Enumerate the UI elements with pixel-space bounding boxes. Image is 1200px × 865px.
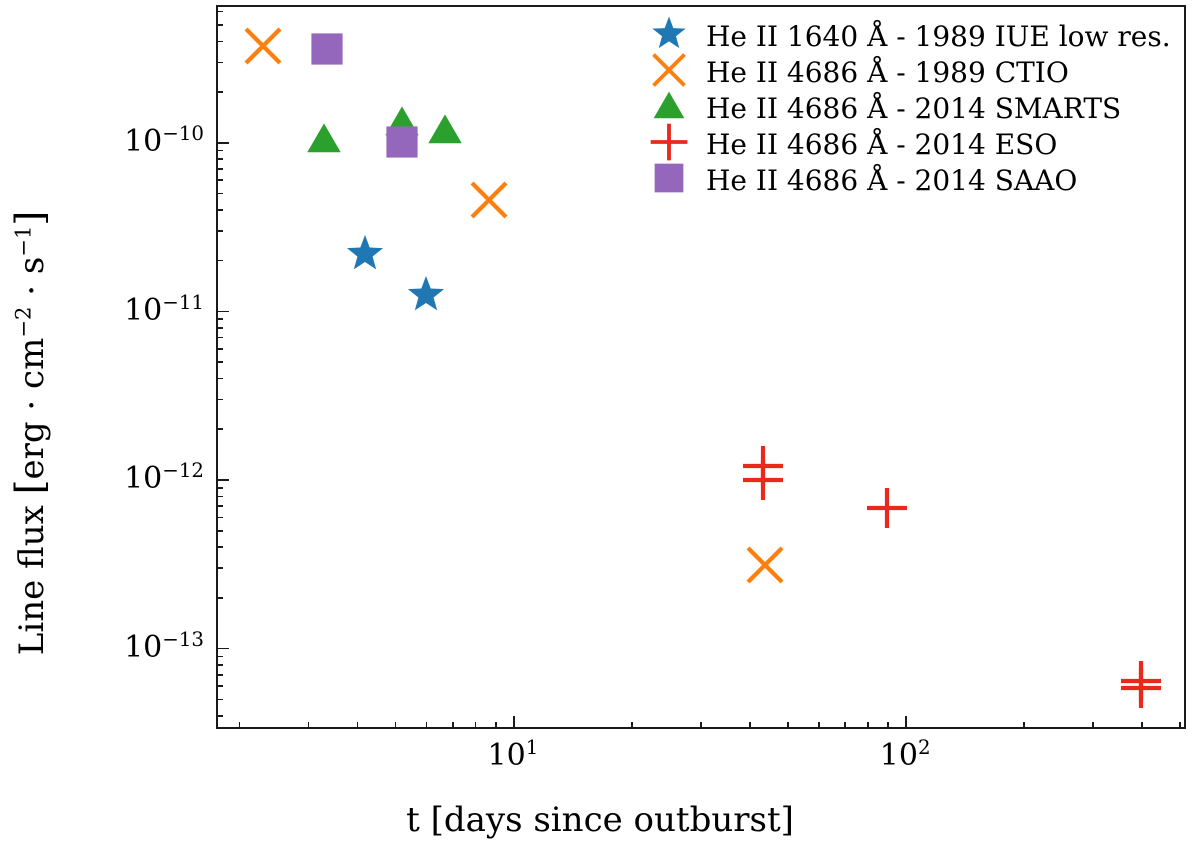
y-axis-tick-minor	[216, 41, 223, 43]
y-axis-tick-minor	[216, 496, 223, 498]
y-axis-tick-minor	[216, 715, 223, 717]
y-axis-tick-minor	[216, 337, 223, 339]
y-axis-label-s: s	[12, 256, 52, 273]
y-axis-tick-minor	[216, 179, 223, 181]
data-point-marker	[867, 488, 907, 532]
data-point-marker	[382, 122, 422, 166]
x-axis-tick-label: 101	[488, 741, 539, 771]
y-axis-tick-minor	[216, 62, 223, 64]
data-point-marker	[244, 27, 282, 69]
y-axis-tick-minor	[216, 193, 223, 195]
y-axis-label-s-exponent: −1	[11, 225, 36, 256]
y-axis-tick-label: 10−12	[124, 464, 204, 494]
x-axis-tick-minor	[495, 722, 497, 729]
x-axis-tick-minor	[395, 722, 397, 729]
x-axis-tick-minor	[426, 722, 428, 729]
x-axis-tick-minor	[818, 722, 820, 729]
legend-marker-square-icon	[642, 162, 696, 198]
y-axis-tick-minor	[216, 656, 223, 658]
y-axis-label-cm-exponent: −2	[11, 306, 36, 337]
x-axis-tick-minor	[1179, 722, 1181, 729]
y-axis-tick-minor	[216, 11, 223, 13]
x-axis-tick-minor	[239, 722, 241, 729]
y-axis-tick-major	[216, 311, 229, 313]
y-axis-tick-minor	[216, 597, 223, 599]
legend-entry-3[interactable]: He II 4686 Å - 2014 ESO	[642, 126, 1171, 162]
figure-scatter-line-flux: Line flux [erg · cm−2 · s−1] 10110210−10…	[0, 0, 1200, 865]
x-axis-tick-minor	[867, 722, 869, 729]
y-axis-label-open-bracket: [	[8, 479, 52, 494]
y-axis-tick-major	[216, 648, 229, 650]
legend: He II 1640 Å - 1989 IUE low res.He II 46…	[642, 18, 1171, 198]
data-point-marker	[743, 460, 783, 504]
y-axis-tick-minor	[216, 209, 223, 211]
x-axis-tick-major	[513, 716, 515, 729]
y-axis-tick-minor	[216, 348, 223, 350]
y-axis-tick-minor	[216, 150, 223, 152]
legend-entry-0[interactable]: He II 1640 Å - 1989 IUE low res.	[642, 18, 1171, 54]
y-axis-label-prefix: Line flux	[12, 494, 52, 655]
y-axis-tick-minor	[216, 168, 223, 170]
y-axis-tick-minor	[216, 546, 223, 548]
y-axis-tick-minor	[216, 158, 223, 160]
x-axis-tick-minor	[787, 722, 789, 729]
y-axis-tick-minor	[216, 260, 223, 262]
x-axis-label: t [days since outburst]	[0, 800, 1200, 840]
y-axis-label-dot-2: ·	[12, 274, 52, 306]
legend-marker-x-icon	[642, 54, 696, 90]
legend-marker-star-icon	[642, 18, 696, 54]
legend-label: He II 4686 Å - 1989 CTIO	[696, 56, 1069, 89]
y-axis-tick-minor	[216, 428, 223, 430]
legend-marker-plus-icon	[642, 126, 696, 162]
y-axis-tick-minor	[216, 699, 223, 701]
legend-label: He II 4686 Å - 2014 SAAO	[696, 164, 1077, 197]
legend-entry-4[interactable]: He II 4686 Å - 2014 SAAO	[642, 162, 1171, 198]
y-axis-label-close-bracket: ]	[8, 210, 52, 225]
y-axis-tick-label: 10−11	[124, 296, 204, 326]
y-axis-label-cm: cm	[12, 337, 52, 388]
legend-entry-1[interactable]: He II 4686 Å - 1989 CTIO	[642, 54, 1171, 90]
x-axis-tick-minor	[887, 722, 889, 729]
y-axis-tick-minor	[216, 378, 223, 380]
x-axis-tick-minor	[357, 722, 359, 729]
y-axis-label-dot-1: ·	[12, 388, 52, 420]
data-point-marker	[426, 111, 464, 153]
data-point-marker	[470, 181, 508, 223]
legend-label: He II 1640 Å - 1989 IUE low res.	[696, 20, 1171, 53]
y-axis-tick-minor	[216, 487, 223, 489]
y-axis-tick-minor	[216, 24, 223, 26]
x-axis-tick-minor	[844, 722, 846, 729]
legend-entry-2[interactable]: He II 4686 Å - 2014 SMARTS	[642, 90, 1171, 126]
x-axis-tick-minor	[1141, 722, 1143, 729]
y-axis-tick-minor	[216, 399, 223, 401]
data-point-marker	[305, 120, 343, 162]
y-axis-tick-major	[216, 142, 229, 144]
legend-label: He II 4686 Å - 2014 ESO	[696, 128, 1057, 161]
y-axis-tick-minor	[216, 505, 223, 507]
y-axis-tick-minor	[216, 685, 223, 687]
data-point-marker	[307, 29, 347, 73]
y-axis-label-erg: erg	[12, 421, 52, 479]
y-axis-tick-minor	[216, 230, 223, 232]
y-axis-tick-major	[216, 479, 229, 481]
y-axis-tick-minor	[216, 327, 223, 329]
x-axis-tick-minor	[452, 722, 454, 729]
y-axis-label-container: Line flux [erg · cm−2 · s−1]	[0, 0, 62, 865]
x-axis-tick-minor	[1023, 722, 1025, 729]
y-axis-tick-minor	[216, 674, 223, 676]
x-axis-tick-minor	[700, 722, 702, 729]
y-axis-tick-minor	[216, 517, 223, 519]
y-axis-tick-minor	[216, 664, 223, 666]
data-point-marker	[746, 546, 784, 588]
y-axis-tick-minor	[216, 567, 223, 569]
y-axis-tick-label: 10−13	[124, 633, 204, 663]
x-axis-tick-label: 102	[880, 741, 931, 771]
x-axis-tick-major	[905, 716, 907, 729]
x-axis-tick-minor	[1092, 722, 1094, 729]
data-point-marker	[346, 235, 384, 277]
x-axis-tick-minor	[308, 722, 310, 729]
y-axis-tick-minor	[216, 361, 223, 363]
legend-label: He II 4686 Å - 2014 SMARTS	[696, 92, 1121, 125]
x-axis-tick-minor	[631, 722, 633, 729]
data-point-marker	[407, 276, 445, 318]
x-axis-tick-minor	[475, 722, 477, 729]
y-axis-tick-minor	[216, 318, 223, 320]
data-point-marker	[1121, 668, 1161, 712]
x-axis-tick-minor	[749, 722, 751, 729]
y-axis-tick-label: 10−10	[124, 127, 204, 157]
y-axis-tick-minor	[216, 91, 223, 93]
legend-marker-triangle-icon	[642, 90, 696, 126]
y-axis-label: Line flux [erg · cm−2 · s−1]	[8, 210, 52, 654]
y-axis-tick-minor	[216, 530, 223, 532]
